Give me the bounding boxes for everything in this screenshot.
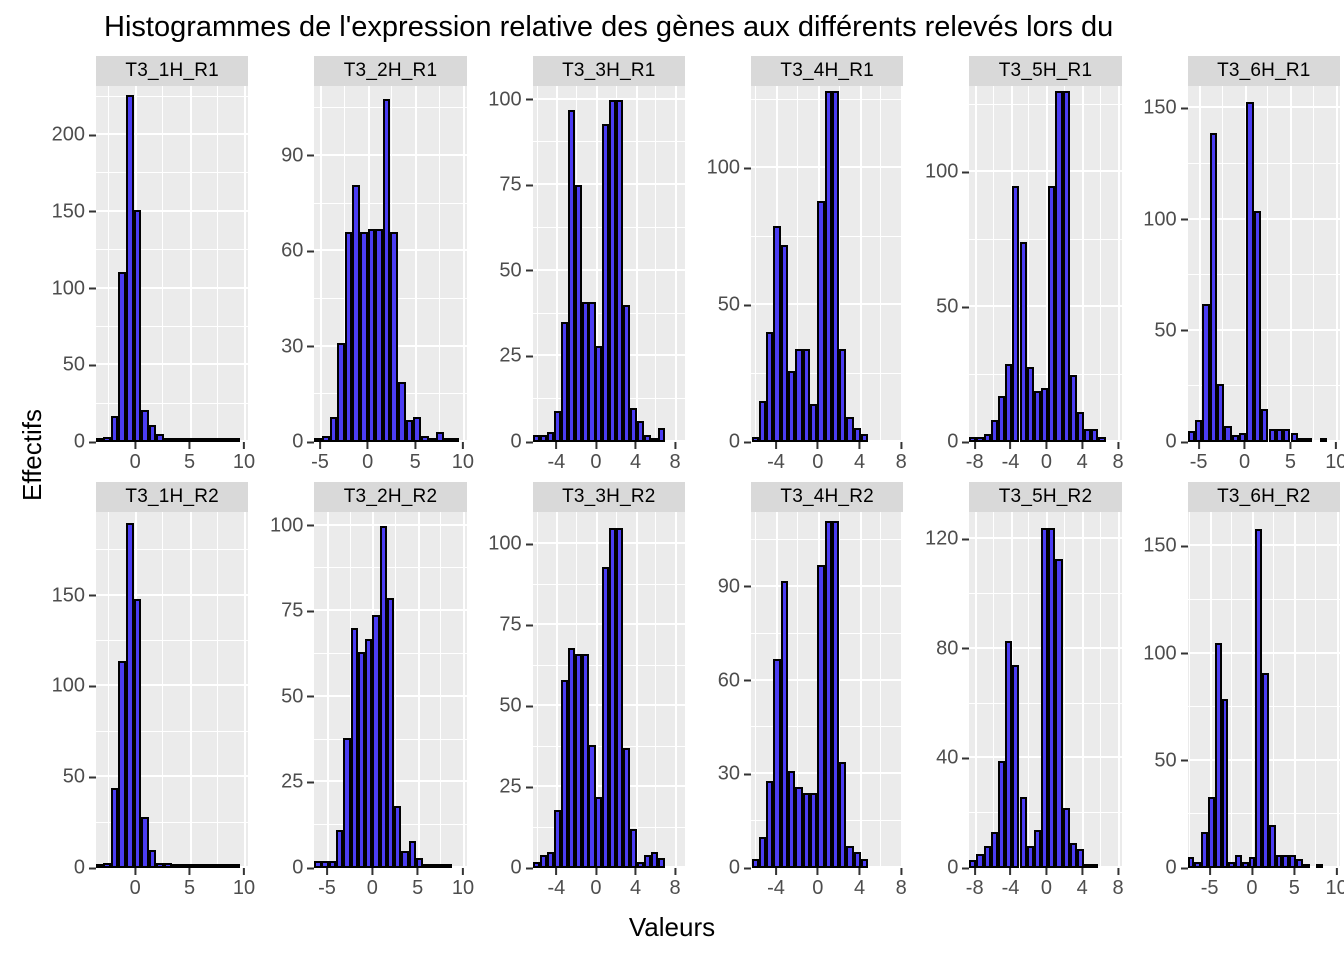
gridline-horizontal [1188, 106, 1340, 108]
histogram-bar [352, 185, 360, 442]
gridline-vertical [440, 512, 441, 868]
histogram-bar [773, 659, 780, 868]
gridline-horizontal [96, 594, 248, 596]
gridline-vertical [1189, 512, 1190, 868]
facet-strip-label: T3_6H_R2 [1188, 482, 1340, 512]
histogram-bar [839, 349, 846, 442]
gridline-vertical [1337, 512, 1339, 868]
x-tick-label: 0 [1246, 868, 1257, 900]
histogram-bar [795, 787, 802, 868]
histogram-bar [1012, 186, 1019, 442]
gridline-vertical [1118, 512, 1120, 868]
x-tick-label: 0 [362, 442, 373, 474]
histogram-bar [118, 661, 126, 868]
histogram-bar [1048, 186, 1055, 442]
gridline-horizontal [314, 567, 466, 568]
facet-strip-label: T3_3H_R1 [533, 56, 685, 86]
gridline-vertical [636, 86, 638, 442]
x-tick-label: 0 [590, 442, 601, 474]
x-tick-label: 4 [854, 442, 865, 474]
y-tick-label: 75 [499, 174, 532, 197]
histogram-bar [788, 771, 795, 868]
histogram-bar [1217, 384, 1224, 442]
histogram-bar [752, 859, 759, 868]
histogram-bar [825, 91, 832, 442]
y-tick-label: 0 [1166, 857, 1188, 880]
facet-panel: T3_3H_R20255075100-4048 [471, 482, 689, 908]
y-tick-label: 150 [52, 584, 96, 607]
gridline-vertical [1199, 86, 1201, 442]
plot-area [533, 512, 685, 868]
x-tick-label: 4 [1077, 868, 1088, 900]
gridline-vertical [537, 86, 538, 442]
x-tick-label: 0 [812, 442, 823, 474]
x-tick-label: 0 [590, 868, 601, 900]
gridline-vertical [880, 86, 881, 442]
histogram-bar [1005, 641, 1012, 868]
histogram-bar [1282, 855, 1289, 868]
plot-area [533, 86, 685, 442]
x-axis: -50510 [1188, 442, 1340, 482]
histogram-bar [1070, 843, 1077, 868]
y-axis: 0306090 [252, 86, 314, 442]
y-tick-label: 75 [499, 614, 532, 637]
gridline-horizontal [96, 133, 248, 135]
facet-panel: T3_4H_R1050100-4048 [689, 56, 907, 482]
y-tick-label: 25 [281, 771, 314, 794]
y-tick-label: 40 [936, 747, 969, 770]
gridline-vertical [1028, 512, 1029, 868]
facet-panel: T3_5H_R204080120-8-4048 [907, 482, 1125, 908]
gridline-vertical [418, 512, 420, 868]
histogram-bar [1262, 673, 1269, 868]
histogram-bar [345, 232, 353, 442]
y-tick-label: 100 [488, 88, 532, 111]
x-axis: -8-4048 [969, 442, 1121, 482]
gridline-vertical [860, 86, 862, 442]
histogram-bar [1283, 429, 1290, 442]
histogram-bar [368, 229, 376, 442]
histogram-bar [803, 349, 810, 442]
histogram-bar [832, 91, 839, 442]
histogram-bar [1063, 808, 1070, 868]
histogram-bar [773, 226, 780, 442]
x-tick-label: 5 [184, 868, 195, 900]
histogram-bar [1210, 133, 1217, 442]
gridline-vertical [1231, 512, 1232, 868]
gridline-horizontal [96, 640, 248, 641]
histogram-bar [1254, 211, 1261, 442]
chart-root: Histogrammes de l'expression relative de… [0, 0, 1344, 960]
histogram-bar [781, 581, 788, 868]
y-tick-label: 50 [718, 294, 751, 317]
x-tick-label: -8 [966, 442, 984, 474]
y-axis: 0306090 [689, 512, 751, 868]
gridline-vertical [1100, 512, 1101, 868]
gridline-vertical [993, 86, 994, 442]
histogram-bar [1055, 559, 1062, 868]
facet-strip-label: T3_6H_R1 [1188, 56, 1340, 86]
histogram-bar [141, 410, 149, 442]
y-axis: 050100150200 [34, 86, 96, 442]
y-tick-label: 50 [281, 685, 314, 708]
gridline-horizontal [96, 210, 248, 212]
histogram-bar [846, 417, 853, 442]
histogram-bar [998, 396, 1005, 442]
gridline-vertical [1252, 512, 1254, 868]
histogram-bar [817, 565, 824, 868]
x-tick-label: -4 [547, 442, 565, 474]
gridline-vertical [1315, 512, 1316, 868]
gridline-vertical [901, 512, 903, 868]
y-axis: 0255075100 [471, 86, 533, 442]
plot-area [751, 512, 903, 868]
x-tick-label: 10 [1325, 442, 1344, 474]
gridline-vertical [880, 512, 881, 868]
y-tick-label: 100 [1143, 208, 1187, 231]
facet-panel: T3_3H_R10255075100-4048 [471, 56, 689, 482]
gridline-vertical [1313, 86, 1314, 442]
x-axis: -4048 [751, 442, 903, 482]
facet-panel: T3_4H_R20306090-4048 [689, 482, 907, 908]
y-tick-label: 0 [729, 431, 751, 454]
y-tick-label: 100 [1143, 642, 1187, 665]
y-tick-label: 25 [499, 776, 532, 799]
y-axis: 050100150 [34, 512, 96, 868]
x-tick-label: -4 [767, 868, 785, 900]
y-tick-label: 100 [52, 675, 96, 698]
x-tick-label: 4 [630, 442, 641, 474]
x-tick-label: -5 [311, 442, 329, 474]
gridline-vertical [1082, 512, 1084, 868]
histogram-bar [1034, 391, 1041, 442]
facet-panel: T3_2H_R10306090-50510 [252, 56, 470, 482]
histogram-bar [1289, 855, 1296, 868]
histogram-bar [1077, 412, 1084, 442]
y-tick-label: 60 [281, 240, 314, 263]
x-tick-label: 0 [130, 442, 141, 474]
histogram-bar [1276, 855, 1283, 868]
facet-panel: T3_1H_R20501001500510 [34, 482, 252, 908]
x-tick-label: 4 [1077, 442, 1088, 474]
gridline-vertical [655, 86, 656, 442]
histogram-bar [1041, 388, 1048, 442]
gridline-horizontal [96, 249, 248, 250]
gridline-vertical [975, 86, 977, 442]
x-tick-label: 4 [854, 868, 865, 900]
histogram-bar [1034, 830, 1041, 868]
facet-strip-label: T3_5H_R2 [969, 482, 1121, 512]
histogram-bar [134, 599, 142, 868]
histogram-bar [861, 434, 868, 442]
gridline-horizontal [96, 172, 248, 173]
histogram-bar [126, 95, 134, 442]
histogram-bar [1063, 91, 1070, 442]
y-tick-label: 90 [718, 575, 751, 598]
histogram-bar [1202, 304, 1209, 442]
histogram-bar [854, 852, 861, 868]
gridline-horizontal [96, 96, 248, 97]
gridline-vertical [439, 86, 440, 442]
histogram-bar [134, 210, 142, 442]
x-tick-label: 0 [130, 868, 141, 900]
x-tick-label: 10 [1325, 868, 1344, 900]
facet-grid: T3_1H_R10501001502000510T3_2H_R10306090-… [34, 56, 1344, 908]
histogram-bar [1055, 91, 1062, 442]
gridline-vertical [217, 512, 218, 868]
x-tick-label: -8 [966, 868, 984, 900]
histogram-bar [803, 793, 810, 868]
y-axis: 0255075100 [252, 512, 314, 868]
histogram-bar [766, 781, 773, 868]
x-tick-label: 8 [896, 442, 907, 474]
y-axis: 050100 [907, 86, 969, 442]
histogram-bar [398, 382, 406, 442]
x-tick-label: 5 [1285, 442, 1296, 474]
x-tick-label: -4 [1002, 868, 1020, 900]
gridline-vertical [1267, 86, 1268, 442]
x-axis: -50510 [314, 442, 466, 482]
x-tick-label: 8 [896, 868, 907, 900]
facet-strip-label: T3_2H_R1 [314, 56, 466, 86]
gridline-vertical [162, 512, 163, 868]
gridline-vertical [1118, 86, 1120, 442]
histogram-bar [1224, 426, 1231, 442]
y-tick-label: 120 [925, 528, 969, 551]
gridline-vertical [636, 512, 638, 868]
gridline-vertical [1290, 86, 1292, 442]
y-axis: 0255075100 [471, 512, 533, 868]
facet-panel: T3_1H_R10501001502000510 [34, 56, 252, 482]
x-tick-label: -4 [547, 868, 565, 900]
histogram-bar [406, 420, 414, 442]
plot-area [96, 512, 248, 868]
histogram-bar [390, 232, 398, 442]
histogram-bar [1005, 364, 1012, 442]
gridline-vertical [537, 512, 538, 868]
histogram-bar [1215, 643, 1222, 868]
histogram-bar [126, 523, 134, 868]
y-tick-label: 0 [729, 857, 751, 880]
gridline-vertical [1082, 86, 1084, 442]
gridline-vertical [463, 86, 465, 442]
x-tick-label: 5 [412, 868, 423, 900]
plot-area [751, 86, 903, 442]
x-tick-label: 5 [410, 442, 421, 474]
y-tick-label: 50 [63, 354, 96, 377]
histogram-bar [111, 788, 119, 868]
y-tick-label: 60 [718, 669, 751, 692]
plot-area [969, 86, 1121, 442]
gridline-vertical [190, 512, 192, 868]
y-axis: 050100150 [1126, 512, 1188, 868]
page-title: Histogrammes de l'expression relative de… [104, 6, 1344, 48]
x-tick-label: 0 [812, 868, 823, 900]
x-axis: -4048 [533, 868, 685, 908]
histogram-bar [360, 232, 368, 442]
histogram-bar [156, 434, 164, 442]
histogram-bar [817, 201, 824, 442]
y-tick-label: 50 [499, 259, 532, 282]
y-tick-label: 100 [925, 161, 969, 184]
plot-area [314, 512, 466, 868]
histogram-bar [1195, 420, 1202, 442]
histogram-bar [149, 425, 157, 442]
gridline-vertical [162, 86, 163, 442]
x-tick-label: -5 [318, 868, 336, 900]
x-tick-label: 0 [367, 868, 378, 900]
histogram-bar [118, 272, 126, 442]
y-axis: 04080120 [907, 512, 969, 868]
facet-strip-label: T3_4H_R1 [751, 56, 903, 86]
plot-area [969, 512, 1121, 868]
histogram-bar [984, 434, 991, 442]
histogram-bar [861, 859, 868, 868]
histogram-bar [1235, 855, 1242, 868]
gridline-horizontal [314, 524, 466, 526]
x-tick-label: 4 [630, 868, 641, 900]
facet-panel: T3_6H_R1050100150-50510 [1126, 56, 1344, 482]
histogram-bar [1012, 665, 1019, 868]
plot-area [1188, 512, 1340, 868]
y-tick-label: 150 [52, 200, 96, 223]
x-tick-label: 0 [1041, 442, 1052, 474]
histogram-bar [1296, 859, 1303, 868]
histogram-bar [854, 428, 861, 442]
histogram-bar [1027, 846, 1034, 868]
y-tick-label: 0 [74, 857, 96, 880]
y-tick-label: 100 [52, 277, 96, 300]
x-axis: -50510 [314, 868, 466, 908]
x-axis: -4048 [751, 868, 903, 908]
gridline-vertical [675, 512, 677, 868]
histogram-bar [1246, 102, 1253, 442]
facet-strip-label: T3_2H_R2 [314, 482, 466, 512]
histogram-bar [1188, 857, 1195, 868]
gridline-vertical [860, 512, 862, 868]
y-tick-label: 150 [1143, 535, 1187, 558]
gridline-vertical [675, 86, 677, 442]
histogram-bar [658, 858, 665, 868]
histogram-bar [991, 832, 998, 868]
x-tick-label: -5 [1190, 442, 1208, 474]
facet-strip-label: T3_1H_R2 [96, 482, 248, 512]
x-axis-label: Valeurs [0, 912, 1344, 943]
gridline-vertical [327, 512, 329, 868]
histogram-bar [1084, 429, 1091, 442]
histogram-bar [969, 860, 976, 868]
histogram-bar [1261, 409, 1268, 442]
y-axis: 050100 [689, 86, 751, 442]
histogram-bar [759, 837, 766, 868]
histogram-bar [1232, 435, 1239, 442]
y-tick-label: 50 [499, 695, 532, 718]
histogram-bar [1201, 832, 1208, 868]
y-tick-label: 50 [1154, 319, 1187, 342]
histogram-bar [1208, 797, 1215, 868]
y-tick-label: 0 [511, 431, 533, 454]
gridline-vertical [108, 512, 109, 868]
histogram-bar [1077, 849, 1084, 868]
gridline-vertical [190, 86, 192, 442]
y-tick-label: 50 [1154, 749, 1187, 772]
facet-panel: T3_5H_R1050100-8-4048 [907, 56, 1125, 482]
y-tick-label: 30 [718, 763, 751, 786]
histogram-bar [788, 371, 795, 442]
histogram-bar [832, 521, 839, 868]
histogram-bar [1041, 528, 1048, 868]
gridline-vertical [1336, 86, 1338, 442]
y-axis: 050100150 [1126, 86, 1188, 442]
histogram-bar [825, 521, 832, 868]
histogram-bar [111, 416, 119, 442]
y-tick-label: 150 [1143, 97, 1187, 120]
facet-panel: T3_2H_R20255075100-50510 [252, 482, 470, 908]
histogram-bar [436, 432, 444, 442]
histogram-bar [1276, 429, 1283, 442]
histogram-bar [1020, 797, 1027, 868]
histogram-bar [1249, 857, 1256, 868]
gridline-vertical [244, 86, 246, 442]
y-tick-label: 100 [270, 514, 314, 537]
histogram-bar [976, 854, 983, 868]
gridline-vertical [1273, 512, 1274, 868]
x-tick-label: -5 [1201, 868, 1219, 900]
histogram-bar [1239, 433, 1246, 442]
histogram-bar [998, 761, 1005, 868]
x-axis: -8-4048 [969, 868, 1121, 908]
gridline-vertical [993, 512, 994, 868]
y-tick-label: 50 [63, 766, 96, 789]
gridline-vertical [556, 86, 558, 442]
x-tick-label: 8 [670, 442, 681, 474]
x-tick-label: -4 [1002, 442, 1020, 474]
y-tick-label: 0 [511, 857, 533, 880]
gridline-vertical [244, 512, 246, 868]
y-tick-label: 0 [292, 857, 314, 880]
gridline-vertical [1294, 512, 1296, 868]
x-tick-label: 8 [1113, 868, 1124, 900]
histogram-bar [810, 404, 817, 442]
histogram-bar [337, 343, 345, 442]
x-axis: -4048 [533, 442, 685, 482]
y-tick-label: 100 [488, 533, 532, 556]
gridline-vertical [1100, 86, 1101, 442]
facet-panel: T3_6H_R2050100150-50510 [1126, 482, 1344, 908]
y-tick-label: 90 [281, 144, 314, 167]
facet-strip-label: T3_3H_R2 [533, 482, 685, 512]
y-tick-label: 100 [707, 157, 751, 180]
facet-strip-label: T3_1H_R1 [96, 56, 248, 86]
histogram-bar [1020, 242, 1027, 442]
gridline-vertical [975, 512, 977, 868]
histogram-bar [658, 428, 665, 442]
gridline-vertical [755, 86, 756, 442]
y-tick-label: 30 [281, 335, 314, 358]
histogram-bar [149, 850, 157, 868]
facet-strip-label: T3_5H_R1 [969, 56, 1121, 86]
y-tick-label: 75 [281, 600, 314, 623]
plot-area [96, 86, 248, 442]
histogram-bar [795, 349, 802, 442]
histogram-bar [413, 417, 421, 442]
histogram-bar [1027, 367, 1034, 443]
gridline-vertical [463, 512, 465, 868]
x-tick-label: -4 [767, 442, 785, 474]
gridline-vertical [320, 86, 322, 442]
gridline-vertical [755, 512, 756, 868]
histogram-bar [1048, 528, 1055, 868]
